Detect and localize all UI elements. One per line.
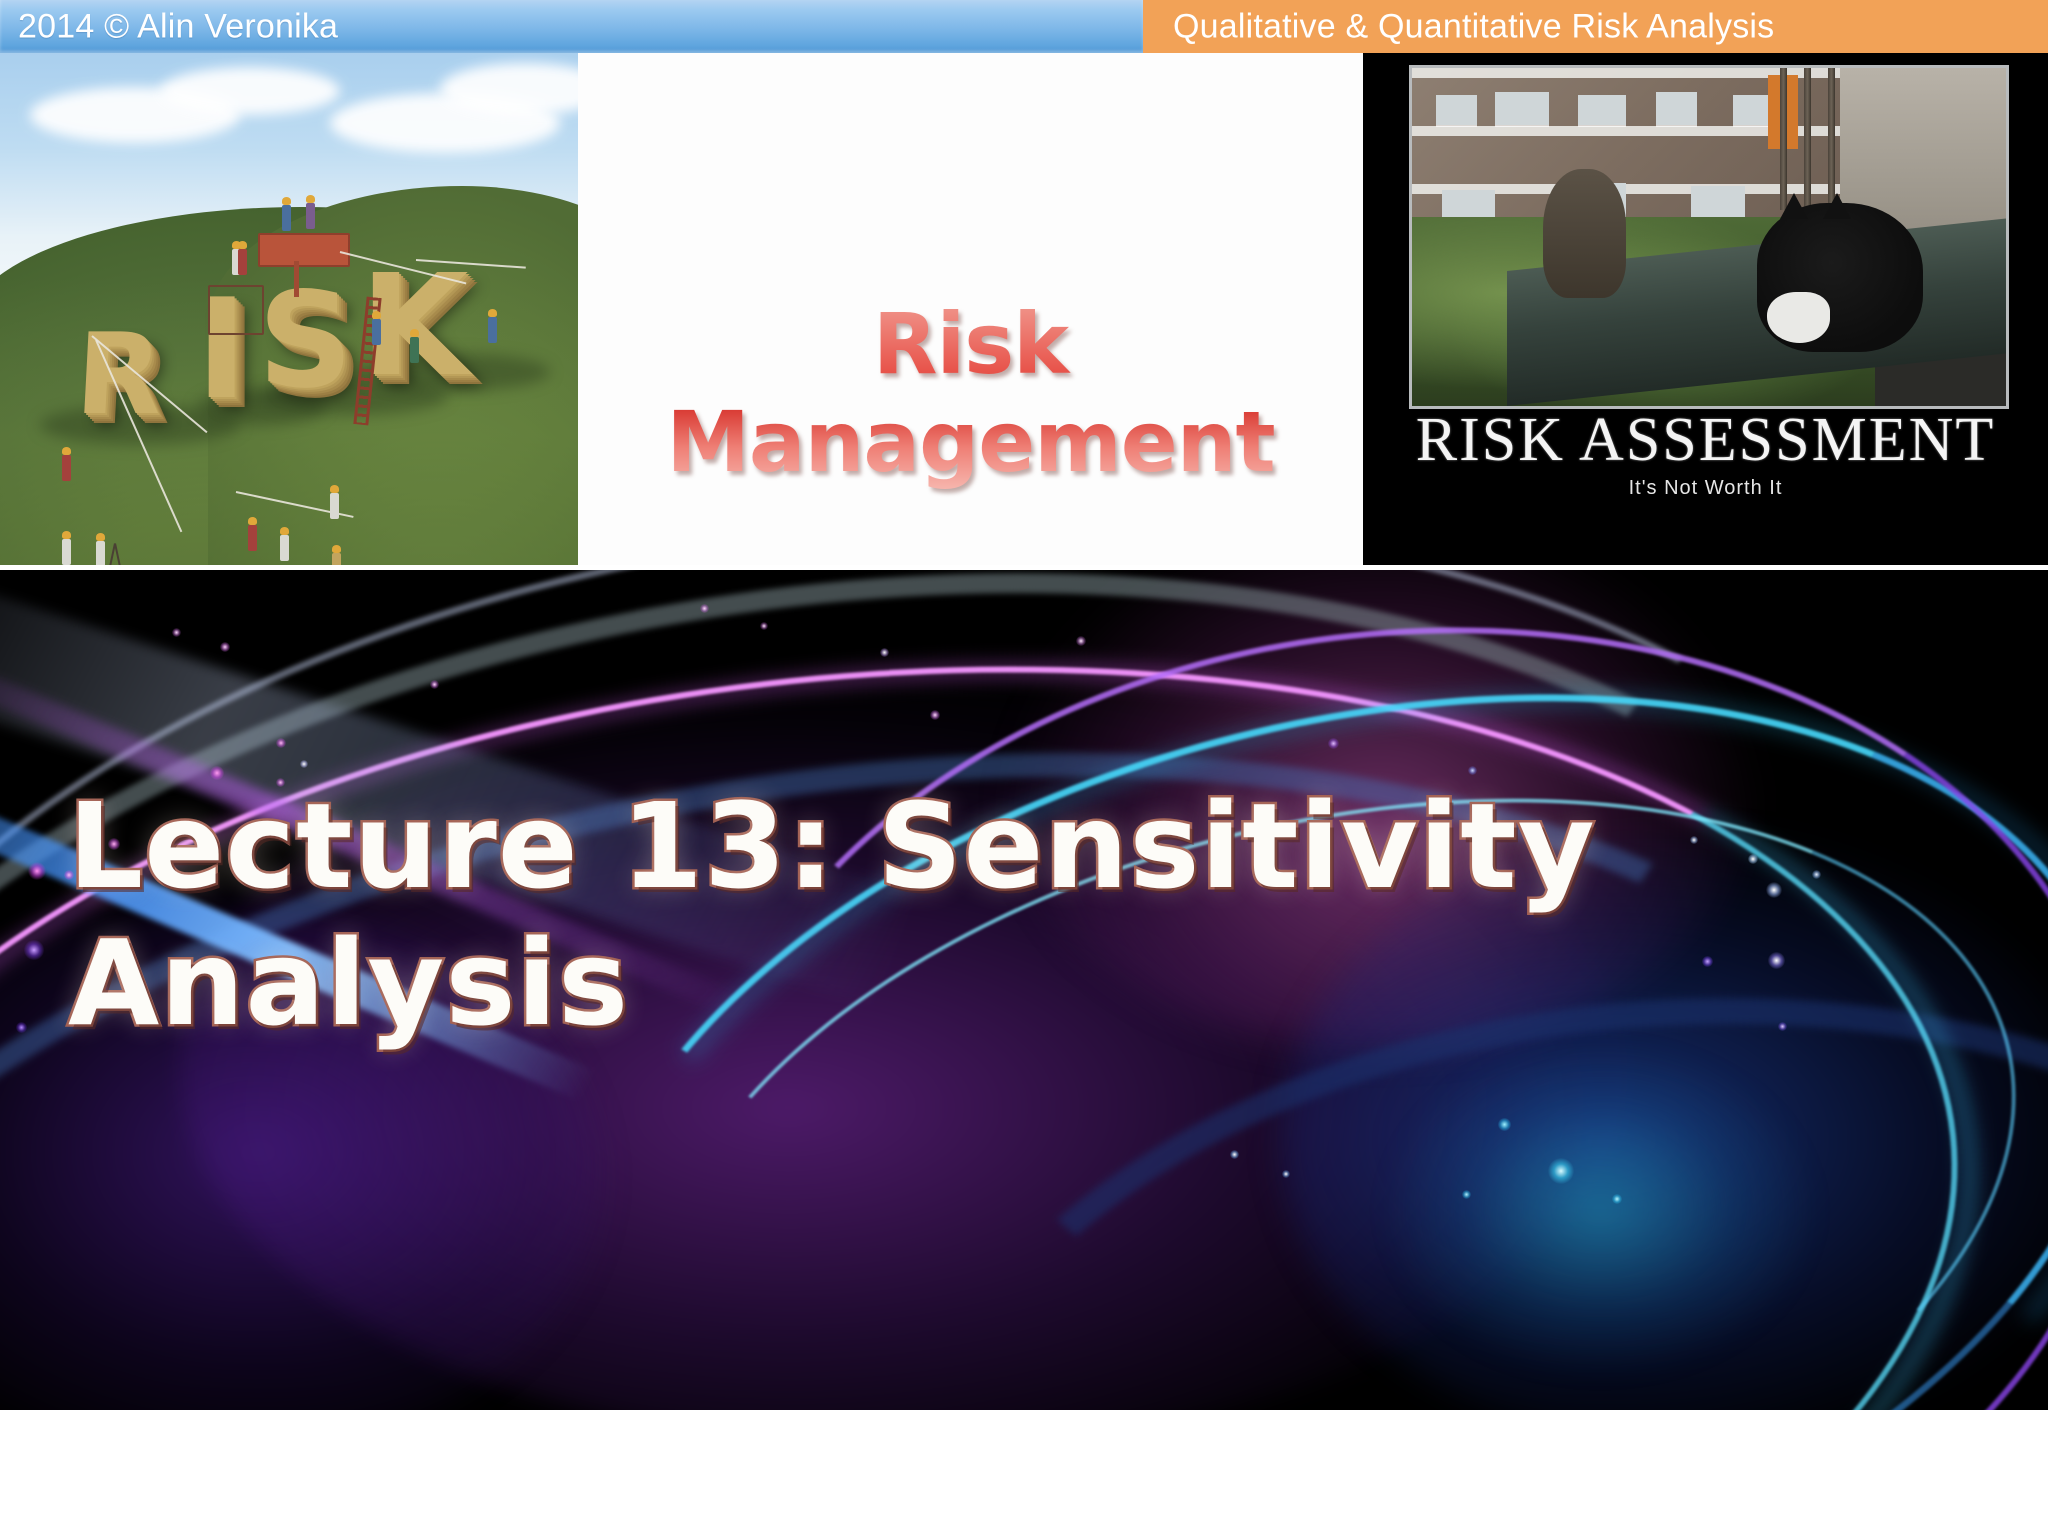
slide-title-line-1: Lecture 13: Sensitivity [68,778,1688,915]
image-strip: R I S K [0,53,2048,570]
sparkle [1548,1158,1574,1184]
scissor-lift-post [294,261,299,297]
sparkle [1462,1190,1471,1199]
drainpipe [1780,68,1787,210]
risk-letter-r: R [73,319,165,431]
worker-figure [410,337,419,363]
worker-figure [330,493,339,519]
sparkle [1768,952,1785,969]
window-shape [1578,95,1626,125]
sparkle [1282,1170,1290,1178]
sparkle [1748,854,1758,864]
sparkle [1690,836,1698,844]
risk-letter-s: S [258,275,353,407]
sparkle [1328,738,1339,749]
worker-figure [62,455,71,481]
sparkle [880,648,889,657]
cat-ear [1780,193,1808,219]
sparkle [700,604,709,613]
sparkle [1766,882,1782,898]
sparkle [28,862,46,880]
sparkle [1468,766,1477,775]
slide-root: 2014 © Alin Veronika Qualitative & Quant… [0,0,2048,1536]
sparkle [1702,956,1713,967]
bird-figure [1543,169,1626,297]
header-right-banner: Qualitative & Quantitative Risk Analysis [1143,0,2048,53]
sparkle [300,760,308,768]
risk-construction-image: R I S K [0,53,578,565]
tower-platform [208,285,264,335]
sparkle [1778,1022,1787,1031]
sparkle [220,642,230,652]
cat-ear [1823,193,1851,219]
risk-assessment-subtitle: It's Not Worth It [1363,477,2048,500]
risk-management-caption: Risk Management [578,295,1363,491]
worker-figure [332,553,341,565]
drainpipe [1828,68,1835,210]
slide-header-bar: 2014 © Alin Veronika Qualitative & Quant… [0,0,2048,53]
cat-chest-marking [1767,292,1830,343]
sparkle [24,940,44,960]
worker-figure [96,541,105,565]
scissor-lift-platform [258,233,350,267]
risk-assessment-title: RISK ASSESSMENT [1363,405,2048,476]
photo-frame [1409,65,2009,409]
sparkle [16,1022,27,1033]
risk-3d-letters: R I S K [70,261,530,451]
worker-figure [280,535,289,561]
slide-title: Lecture 13: Sensitivity Analysis [68,778,1688,1052]
window-shape [1495,92,1548,126]
slide-title-line-2: Analysis [68,915,1688,1052]
sparkle [760,622,768,630]
window-shape [1436,95,1478,125]
header-left-banner: 2014 © Alin Veronika [0,0,1143,53]
cat-figure [1757,203,1923,352]
worker-figure [306,203,315,229]
risk-management-image: Risk Management [578,53,1363,565]
course-title-label: Qualitative & Quantitative Risk Analysis [1173,7,1774,46]
sparkle [1812,870,1821,879]
cloud-shape [160,67,340,115]
worker-figure [238,249,247,275]
sparkle [1076,636,1086,646]
risk-assessment-image: RISK ASSESSMENT It's Not Worth It [1363,53,2048,565]
worker-figure [282,205,291,231]
sparkle [172,628,181,637]
sparkle [930,710,940,720]
drainpipe [1804,68,1811,210]
worker-figure [62,539,71,565]
worker-figure [372,319,381,345]
slide-bottom-strip [0,1410,2048,1536]
sparkle [1498,1118,1511,1131]
sparkle [1230,1150,1239,1159]
sparkle [276,738,286,748]
copyright-label: 2014 © Alin Veronika [18,7,338,46]
worker-figure [488,317,497,343]
sparkle [1612,1194,1622,1204]
sparkle [430,680,439,689]
cyan-glow [1390,1050,1810,1370]
worker-figure [248,525,257,551]
window-shape [1656,92,1698,126]
title-stage: Lecture 13: Sensitivity Analysis [0,570,2048,1410]
